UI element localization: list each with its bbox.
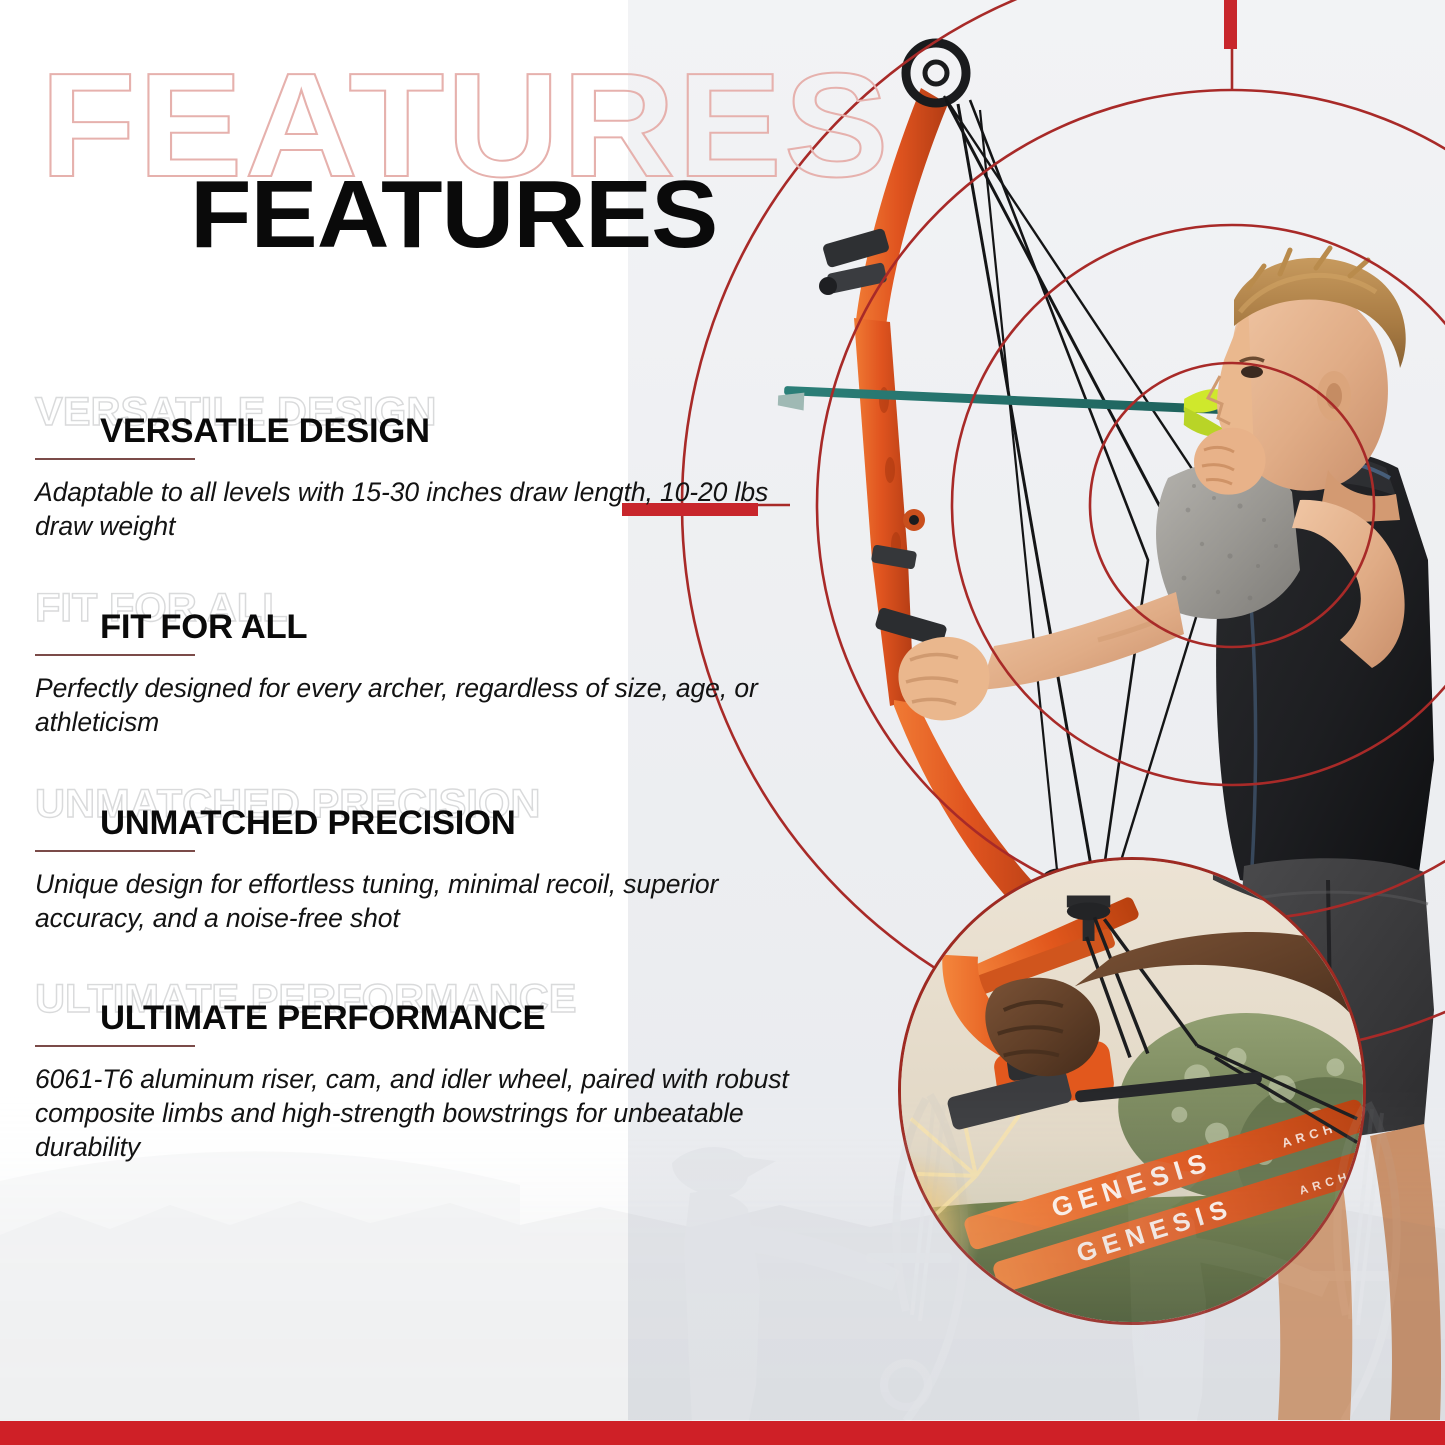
feature-item-unmatched-precision: UNMATCHED PRECISION UNMATCHED PRECISION … bbox=[0, 784, 830, 936]
page-title: FEATURES bbox=[190, 167, 717, 263]
crosshair-tick-top-icon bbox=[1224, 0, 1237, 49]
feature-body-text: Perfectly designed for every archer, reg… bbox=[35, 672, 825, 740]
feature-underline-rule bbox=[35, 654, 195, 656]
feature-underline-rule bbox=[35, 458, 195, 460]
feature-item-versatile-design: VERSATILE DESIGN VERSATILE DESIGN Adapta… bbox=[0, 392, 830, 544]
feature-heading: VERSATILE DESIGN bbox=[100, 392, 845, 448]
feature-underline-rule bbox=[35, 850, 195, 852]
feature-underline-rule bbox=[35, 1045, 195, 1047]
feature-list: VERSATILE DESIGN VERSATILE DESIGN Adapta… bbox=[0, 392, 830, 1209]
feature-item-ultimate-performance: ULTIMATE PERFORMANCE ULTIMATE PERFORMANC… bbox=[0, 979, 830, 1165]
inset-photo-bow-grip: GENESIS ARCH GENESIS ARCH bbox=[898, 857, 1366, 1325]
feature-body-text: Unique design for effortless tuning, min… bbox=[35, 868, 825, 936]
feature-heading: FIT FOR ALL bbox=[100, 588, 845, 644]
headline-block: FEATURES FEATURES bbox=[0, 52, 1050, 282]
feature-body-text: Adaptable to all levels with 15-30 inche… bbox=[35, 476, 825, 544]
feature-body-text: 6061-T6 aluminum riser, cam, and idler w… bbox=[35, 1063, 825, 1165]
feature-item-fit-for-all: FIT FOR ALL FIT FOR ALL Perfectly design… bbox=[0, 588, 830, 740]
feature-heading: ULTIMATE PERFORMANCE bbox=[100, 979, 845, 1035]
infographic-page: GENESIS ARCH GENESIS ARCH bbox=[0, 0, 1445, 1445]
feature-heading: UNMATCHED PRECISION bbox=[100, 784, 845, 840]
footer-accent-bar bbox=[0, 1421, 1445, 1445]
